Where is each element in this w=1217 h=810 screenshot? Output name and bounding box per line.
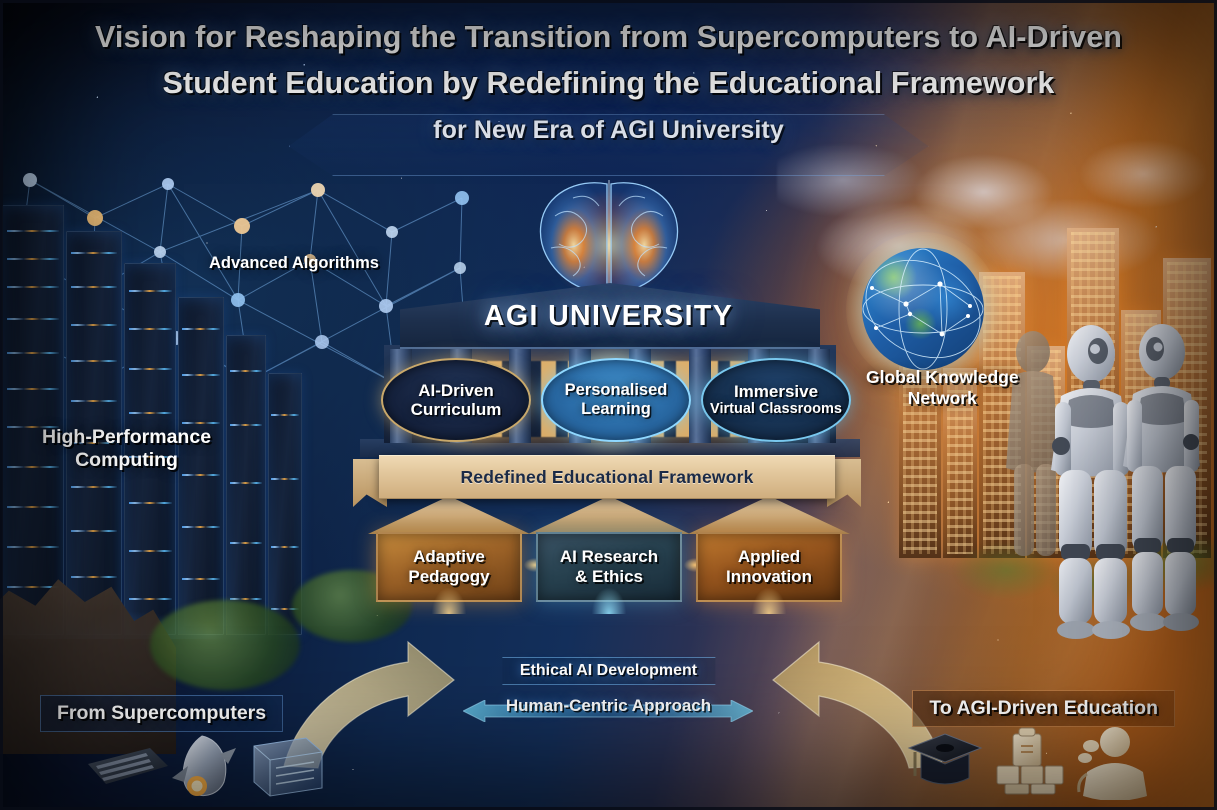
hpc-line-1: High-Performance <box>42 426 211 449</box>
rocket-mouse-icon <box>172 736 236 796</box>
pill-immersive-virtual-classrooms[interactable]: Immersive Virtual Classrooms <box>701 358 851 442</box>
pillar-2-glow <box>592 588 626 614</box>
flow-label-human-centric: Human-Centric Approach <box>506 696 711 716</box>
redefined-framework-banner: Redefined Educational Framework <box>357 455 857 509</box>
pillar-3-line-b: Innovation <box>726 567 812 587</box>
network-globe-icon <box>862 248 984 370</box>
infographic-canvas: Vision for Reshaping the Transition from… <box>0 0 1217 810</box>
person-learner-icon <box>1078 727 1147 800</box>
pillar-2-line-a: AI Research <box>560 547 658 567</box>
pillar-adaptive-pedagogy[interactable]: Adaptive Pedagogy <box>376 498 522 602</box>
pillar-ai-research-ethics[interactable]: AI Research & Ethics <box>536 498 682 602</box>
pill-3-line-b: Virtual Classrooms <box>710 401 842 417</box>
agi-university-sign: AGI UNIVERSITY <box>484 300 733 333</box>
supercomputer-icon-row <box>84 720 344 804</box>
pillar-1-line-a: Adaptive <box>408 547 489 567</box>
annotation-global-knowledge-network: Global Knowledge Network <box>866 367 1019 409</box>
label-from-supercomputers: From Supercomputers <box>40 695 283 732</box>
pill-personalised-learning[interactable]: Personalised Learning <box>541 358 691 442</box>
annotation-high-performance-computing: High-Performance Computing <box>42 426 211 473</box>
glowing-brain-icon <box>521 176 697 300</box>
pill-2-line-b: Learning <box>581 400 651 419</box>
pillar-1-glow <box>432 588 466 614</box>
pillar-applied-innovation[interactable]: Applied Innovation <box>696 498 842 602</box>
agi-education-icon-row <box>901 720 1151 800</box>
gkn-line-1: Global Knowledge <box>866 367 1019 388</box>
server-tower-icon <box>254 738 322 796</box>
title-line-2: Student Education by Redefining the Educ… <box>0 60 1217 106</box>
pill-1-line-b: Curriculum <box>411 400 502 419</box>
banner-body: Redefined Educational Framework <box>379 455 835 499</box>
flow-label-ethical-ai: Ethical AI Development <box>502 657 715 685</box>
label-to-agi-driven-education: To AGI-Driven Education <box>912 690 1175 727</box>
pill-2-line-a: Personalised <box>565 381 668 400</box>
pillar-group: Adaptive Pedagogy AI Research & Ethics A… <box>376 498 842 602</box>
server-racks <box>0 165 300 635</box>
pillar-1-line-b: Pedagogy <box>408 567 489 587</box>
infographic-title: Vision for Reshaping the Transition from… <box>0 14 1217 152</box>
pillar-3-glow <box>752 588 786 614</box>
keyboard-icon <box>88 748 168 784</box>
banner-label: Redefined Educational Framework <box>460 467 753 488</box>
book-stack-icon <box>997 728 1063 794</box>
pillar-3-line-a: Applied <box>726 547 812 567</box>
pill-1-line-a: AI-Driven <box>418 381 494 400</box>
pill-3-line-a: Immersive <box>734 382 818 401</box>
graduation-cap-icon <box>909 734 981 784</box>
pillar-2-line-b: & Ethics <box>560 567 658 587</box>
pill-ai-driven-curriculum[interactable]: AI-Driven Curriculum <box>381 358 531 442</box>
title-chevron-frame <box>289 114 929 176</box>
annotation-advanced-algorithms: Advanced Algorithms <box>209 254 379 274</box>
hpc-line-2: Computing <box>42 449 211 472</box>
gkn-line-2: Network <box>866 388 1019 409</box>
title-line-1: Vision for Reshaping the Transition from… <box>0 14 1217 60</box>
capability-pill-group: AI-Driven Curriculum Personalised Learni… <box>381 358 851 442</box>
humanoid-robots <box>999 318 1209 648</box>
